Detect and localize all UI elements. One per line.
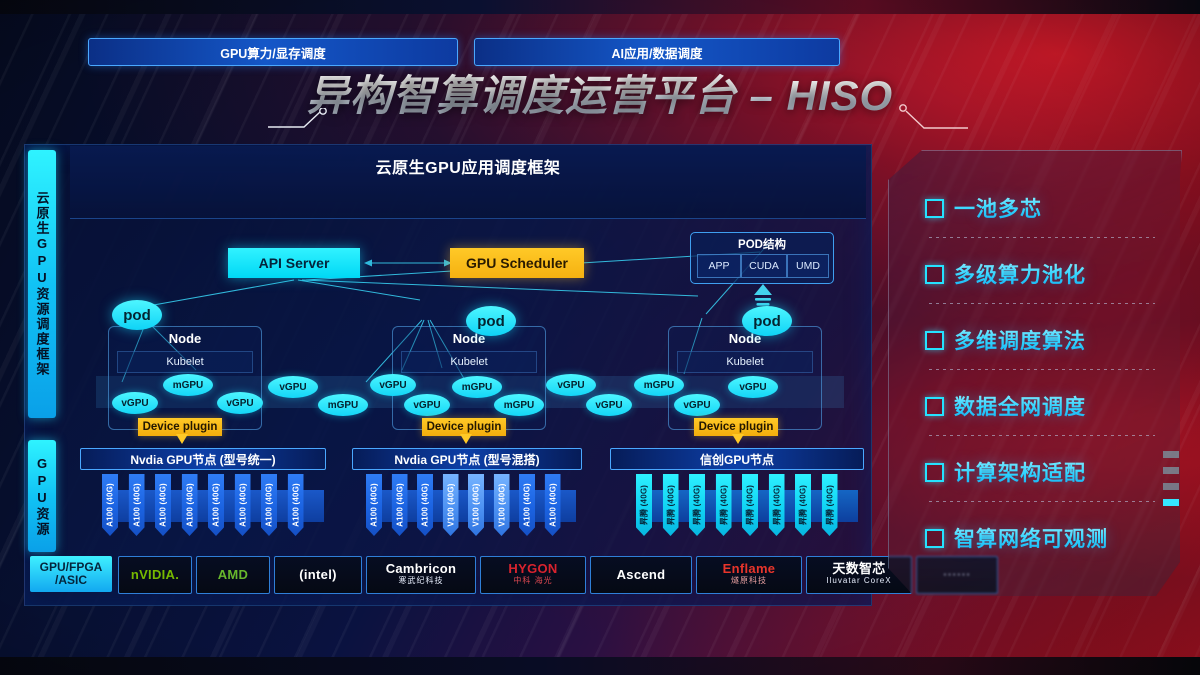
gpu-card-label: A100 (40G) xyxy=(159,483,168,527)
gpu-rack-1: A100 (40G)A100 (40G)A100 (40G)A100 (40G)… xyxy=(102,474,330,540)
pod-structure-box: POD结构 APP CUDA UMD xyxy=(690,232,834,284)
gpu-card-label: A100 (40G) xyxy=(370,483,379,527)
gpu-card[interactable]: 昇腾 (40G) xyxy=(716,474,732,536)
gpu-card-label: V100 (40G) xyxy=(497,483,506,526)
vendor-name: (intel) xyxy=(299,569,336,581)
feature-divider xyxy=(929,237,1155,238)
vgpu-ellipse[interactable]: vGPU xyxy=(217,392,263,414)
gpu-card-label: V100 (40G) xyxy=(446,483,455,526)
vendor-logo-2[interactable]: AMD xyxy=(196,556,270,594)
pod-cell-umd: UMD xyxy=(787,254,829,278)
vgpu-ellipse[interactable]: vGPU xyxy=(268,376,318,398)
gpu-card-label: 昇腾 (40G) xyxy=(824,485,835,525)
checkbox-square-icon xyxy=(925,529,944,548)
feature-label: 数据全网调度 xyxy=(954,391,1086,421)
gpu-card[interactable]: A100 (40G) xyxy=(129,474,145,536)
gpu-card[interactable]: 昇腾 (40G) xyxy=(742,474,758,536)
vgpu-ellipse[interactable]: vGPU xyxy=(370,374,416,396)
feature-label: 智算网络可观测 xyxy=(954,523,1108,553)
top-edge-bar xyxy=(0,0,1200,14)
feature-item-6[interactable]: 智算网络可观测 xyxy=(925,517,1175,559)
gpu-card[interactable]: A100 (40G) xyxy=(102,474,118,536)
gpu-card[interactable]: V100 (40G) xyxy=(443,474,459,536)
feature-divider xyxy=(929,303,1155,304)
checkbox-square-icon xyxy=(925,397,944,416)
vgpu-ellipse[interactable]: vGPU xyxy=(112,392,158,414)
gpu-card-label: A100 (40G) xyxy=(212,483,221,527)
kubelet-bar: Kubelet xyxy=(677,351,813,373)
title-area: 异构智算调度运营平台 – HISO xyxy=(0,62,1200,134)
vendor-name-cn: 中科 海光 xyxy=(513,575,552,587)
vgpu-ellipse[interactable]: vGPU xyxy=(546,374,596,396)
mgpu-ellipse[interactable]: mGPU xyxy=(634,374,684,396)
feature-label: 计算架构适配 xyxy=(954,457,1086,487)
feature-item-5[interactable]: 计算架构适配 xyxy=(925,451,1175,493)
gpu-card-label: 昇腾 (40G) xyxy=(771,485,782,525)
slide-canvas: 异构智算调度运营平台 – HISO 云原生GPU资源调度框架 GPU资源 云原生… xyxy=(0,0,1200,675)
pill-gpu-compute-memory-scheduling[interactable]: GPU算力/显存调度 xyxy=(88,38,458,66)
gpu-card-label: A100 (40G) xyxy=(395,483,404,527)
vendor-name: Ascend xyxy=(617,569,666,581)
vendor-name-cn: Iluvatar CoreX xyxy=(826,575,891,587)
node-title: Node xyxy=(109,331,261,346)
gpu-card-label: 昇腾 (40G) xyxy=(745,485,756,525)
pod-ellipse-2[interactable]: pod xyxy=(466,306,516,336)
feature-label: 多维调度算法 xyxy=(954,325,1086,355)
feature-divider xyxy=(929,435,1155,436)
gpu-card[interactable]: A100 (40G) xyxy=(235,474,251,536)
vendor-name-cn: 寒武纪科技 xyxy=(398,575,443,587)
gpu-card-label: A100 (40G) xyxy=(106,483,115,527)
gpu-card[interactable]: A100 (40G) xyxy=(208,474,224,536)
vendor-name: 天数智芯 xyxy=(832,563,885,575)
vendor-logo-row: GPU/FPGA /ASIC nVIDIA.AMD(intel)Cambrico… xyxy=(24,556,870,594)
vendor-label-line2: /ASIC xyxy=(55,574,87,587)
gpu-card[interactable]: 昇腾 (40G) xyxy=(822,474,838,536)
gpu-card[interactable]: A100 (40G) xyxy=(155,474,171,536)
gpu-group-header-3: 信创GPU节点 xyxy=(610,448,864,470)
vendor-logo-7[interactable]: Enflame燧原科技 xyxy=(696,556,802,594)
vgpu-ellipse[interactable]: vGPU xyxy=(728,376,778,398)
pill-ai-app-data-scheduling[interactable]: AI应用/数据调度 xyxy=(474,38,840,66)
feature-item-1[interactable]: 一池多芯 xyxy=(925,187,1175,229)
gpu-card[interactable]: A100 (40G) xyxy=(545,474,561,536)
vendor-name-cn: 燧原科技 xyxy=(731,575,767,587)
gpu-card[interactable]: A100 (40G) xyxy=(519,474,535,536)
vendor-logo-6[interactable]: Ascend xyxy=(590,556,692,594)
gpu-card[interactable]: A100 (40G) xyxy=(288,474,304,536)
node-title: Node xyxy=(669,331,821,346)
feature-item-3[interactable]: 多维调度算法 xyxy=(925,319,1175,361)
gpu-card[interactable]: 昇腾 (40G) xyxy=(689,474,705,536)
panel-notch-icon xyxy=(1163,499,1179,506)
page-title: 异构智算调度运营平台 – HISO xyxy=(0,62,1200,123)
gpu-card[interactable]: V100 (40G) xyxy=(494,474,510,536)
api-server-box[interactable]: API Server xyxy=(228,248,360,278)
gpu-card[interactable]: 昇腾 (40G) xyxy=(769,474,785,536)
cloud-native-title: 云原生GPU应用调度框架 xyxy=(70,154,866,178)
gpu-card-label: 昇腾 (40G) xyxy=(798,485,809,525)
gpu-card-label: 昇腾 (40G) xyxy=(665,485,676,525)
sidetab-gpu-resource: GPU资源 xyxy=(28,440,56,552)
checkbox-square-icon xyxy=(925,331,944,350)
feature-label: 多级算力池化 xyxy=(954,259,1086,289)
feature-divider xyxy=(929,369,1155,370)
pod-cell-app: APP xyxy=(697,254,741,278)
title-decoration-left-icon xyxy=(268,108,330,128)
node-title: Node xyxy=(393,331,545,346)
checkbox-square-icon xyxy=(925,265,944,284)
pod-cell-cuda: CUDA xyxy=(741,254,787,278)
vendor-logo-5[interactable]: HYGON中科 海光 xyxy=(480,556,586,594)
gpu-card[interactable]: A100 (40G) xyxy=(182,474,198,536)
kubelet-bar: Kubelet xyxy=(117,351,253,373)
vendor-name: nVIDIA. xyxy=(131,569,179,581)
vendor-name: Enflame xyxy=(723,563,776,575)
feature-divider xyxy=(929,501,1155,502)
vendor-name: HYGON xyxy=(508,563,557,575)
pod-ellipse-1[interactable]: pod xyxy=(112,300,162,330)
gpu-card-label: 昇腾 (40G) xyxy=(692,485,703,525)
bottom-edge-bar xyxy=(0,657,1200,675)
gpu-group-header-2: Nvdia GPU节点 (型号混搭) xyxy=(352,448,582,470)
vendor-category-label: GPU/FPGA /ASIC xyxy=(30,556,112,592)
mgpu-ellipse[interactable]: mGPU xyxy=(452,376,502,398)
gpu-group-header-1: Nvdia GPU节点 (型号统一) xyxy=(80,448,326,470)
gpu-card[interactable]: A100 (40G) xyxy=(261,474,277,536)
feature-item-4[interactable]: 数据全网调度 xyxy=(925,385,1175,427)
vendor-logo-1[interactable]: nVIDIA. xyxy=(118,556,192,594)
gpu-card[interactable]: A100 (40G) xyxy=(366,474,382,536)
vendor-logo-3[interactable]: (intel) xyxy=(274,556,362,594)
gpu-card-label: 昇腾 (40G) xyxy=(639,485,650,525)
title-decoration-right-icon xyxy=(898,104,968,130)
gpu-card[interactable]: V100 (40G) xyxy=(468,474,484,536)
gpu-rack-2: A100 (40G)A100 (40G)A100 (40G)V100 (40G)… xyxy=(366,474,578,540)
gpu-card-label: A100 (40G) xyxy=(185,483,194,527)
gpu-card-label: A100 (40G) xyxy=(291,483,300,527)
pod-structure-title: POD结构 xyxy=(691,236,833,252)
gpu-card-label: A100 (40G) xyxy=(265,483,274,527)
gpu-card-label: A100 (40G) xyxy=(238,483,247,527)
mgpu-ellipse[interactable]: mGPU xyxy=(494,394,544,416)
vgpu-ellipse[interactable]: vGPU xyxy=(404,394,450,416)
mgpu-ellipse[interactable]: mGPU xyxy=(163,374,213,396)
checkbox-square-icon xyxy=(925,199,944,218)
vgpu-ellipse[interactable]: vGPU xyxy=(586,394,632,416)
gpu-card-label: 昇腾 (40G) xyxy=(718,485,729,525)
feature-panel: 一池多芯多级算力池化多维调度算法数据全网调度计算架构适配智算网络可观测 xyxy=(888,150,1182,598)
gpu-rack-3: 昇腾 (40G)昇腾 (40G)昇腾 (40G)昇腾 (40G)昇腾 (40G)… xyxy=(636,474,862,540)
pod-ellipse-3[interactable]: pod xyxy=(742,306,792,336)
sidetab-cloud-native-framework: 云原生GPU资源调度框架 xyxy=(28,150,56,418)
feature-item-2[interactable]: 多级算力池化 xyxy=(925,253,1175,295)
gpu-card-label: V100 (40G) xyxy=(472,483,481,526)
mgpu-ellipse[interactable]: mGPU xyxy=(318,394,368,416)
gpu-scheduler-box[interactable]: GPU Scheduler xyxy=(450,248,584,278)
gpu-card[interactable]: A100 (40G) xyxy=(392,474,408,536)
gpu-card-label: A100 (40G) xyxy=(523,483,532,527)
cloud-native-header-strip: 云原生GPU应用调度框架 xyxy=(70,146,866,219)
checkbox-square-icon xyxy=(925,463,944,482)
gpu-card[interactable]: A100 (40G) xyxy=(417,474,433,536)
vgpu-ellipse[interactable]: vGPU xyxy=(674,394,720,416)
gpu-card[interactable]: 昇腾 (40G) xyxy=(636,474,652,536)
gpu-card[interactable]: 昇腾 (40G) xyxy=(663,474,679,536)
gpu-card[interactable]: 昇腾 (40G) xyxy=(795,474,811,536)
gpu-card-label: A100 (40G) xyxy=(548,483,557,527)
gpu-card-label: A100 (40G) xyxy=(132,483,141,527)
vendor-logo-4[interactable]: Cambricon寒武纪科技 xyxy=(366,556,476,594)
feature-label: 一池多芯 xyxy=(954,193,1042,223)
vendor-name: Cambricon xyxy=(386,563,457,575)
gpu-card-label: A100 (40G) xyxy=(421,483,430,527)
kubelet-bar: Kubelet xyxy=(401,351,537,373)
vendor-name: AMD xyxy=(218,569,249,581)
